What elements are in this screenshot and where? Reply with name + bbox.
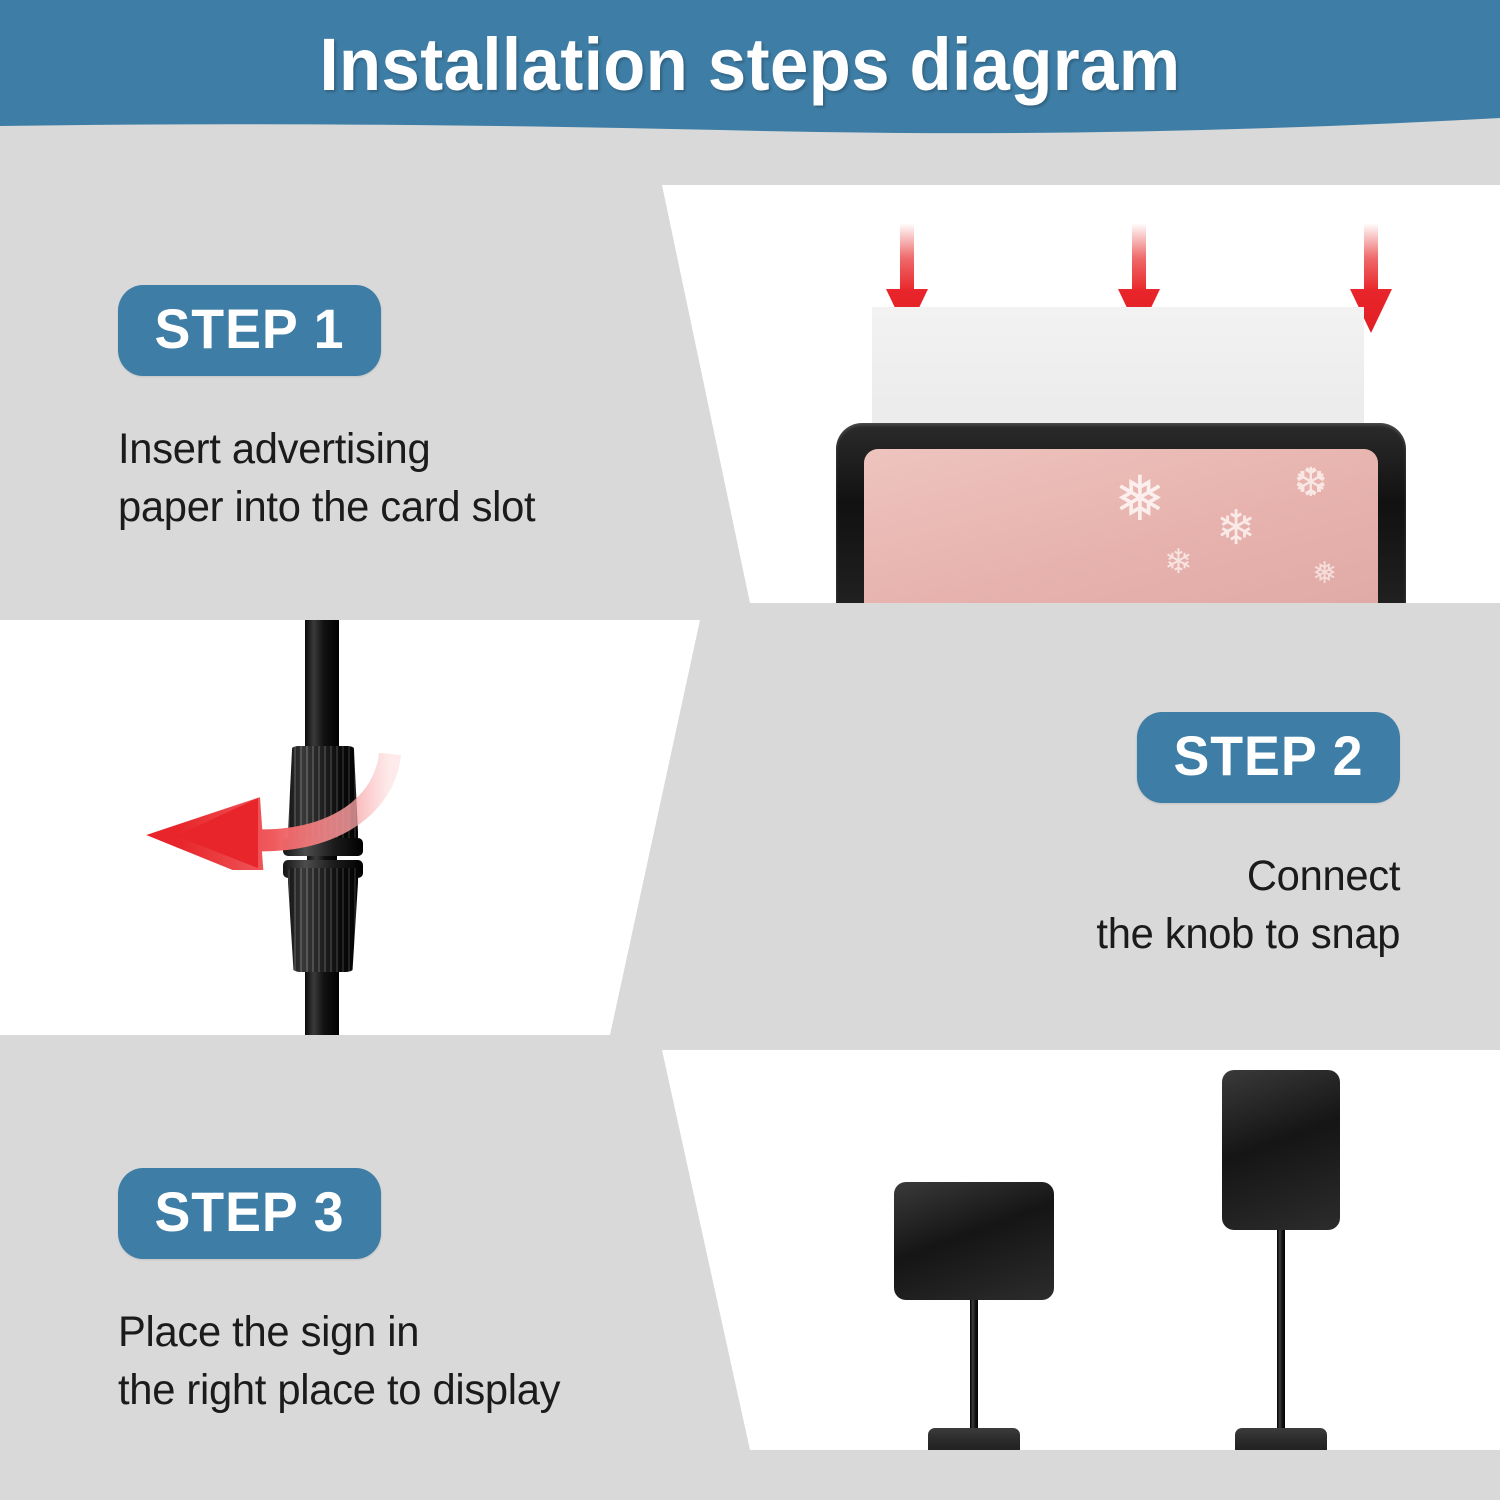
step-2-artwork bbox=[0, 620, 760, 1035]
snowflake-icon: ❅ bbox=[1114, 469, 1166, 531]
step-3-artwork: Spring SALE SPECIAL OFFER UP TO 60% OFF bbox=[640, 1050, 1500, 1450]
snowflake-icon: ❆ bbox=[1294, 463, 1328, 503]
page-title: Installation steps diagram bbox=[53, 0, 1448, 128]
step-2-description: Connect the knob to snap bbox=[1096, 847, 1400, 964]
stand-pole bbox=[1277, 1230, 1285, 1446]
step-1-description-line-2: paper into the card slot bbox=[118, 478, 535, 536]
step-1-description-line-1: Insert advertising bbox=[118, 420, 535, 478]
step-2-description-line-2: the knob to snap bbox=[1096, 905, 1400, 963]
step-3-row: STEP 3 Place the sign in the right place… bbox=[0, 1050, 1500, 1450]
infographic-page: Installation steps diagram STEP 1 Insert… bbox=[0, 0, 1500, 1500]
step-2-row: STEP 2 Connect the knob to snap bbox=[0, 620, 1500, 1035]
snowflake-icon: ❄ bbox=[1216, 505, 1256, 553]
step-2-description-line-1: Connect bbox=[1096, 847, 1400, 905]
header-banner: Installation steps diagram bbox=[0, 0, 1500, 135]
rotate-arrow-icon bbox=[140, 740, 420, 870]
snowflake-icon: ❅ bbox=[1312, 559, 1337, 589]
step-2-badge: STEP 2 bbox=[1137, 712, 1400, 803]
step-3-text-block: STEP 3 Place the sign in the right place… bbox=[118, 1168, 574, 1420]
step-3-badge: STEP 3 bbox=[118, 1168, 381, 1259]
snowflake-icon: ❄ bbox=[1164, 545, 1193, 579]
step-1-text-block: STEP 1 Insert advertising paper into the… bbox=[118, 285, 548, 537]
step-1-badge: STEP 1 bbox=[118, 285, 381, 376]
step-2-image-panel bbox=[0, 620, 760, 1035]
bottom-background-strip bbox=[0, 1452, 1500, 1500]
step-1-artwork: ❄ ❅ ❆ ❄ ❅ ❆ ❄ ❅ ❄ ❆ ❄ ❅ bbox=[640, 185, 1500, 603]
knob-lower bbox=[288, 868, 358, 972]
step-3-description: Place the sign in the right place to dis… bbox=[118, 1303, 560, 1420]
step-2-text-block: STEP 2 Connect the knob to snap bbox=[1087, 712, 1400, 964]
sign-frame-portrait: ❄ ❅ ❆ ❄ ❅ Merry Christmas DECEMBER 25 bbox=[1222, 1070, 1340, 1230]
step-1-image-panel: ❄ ❅ ❆ ❄ ❅ ❆ ❄ ❅ ❄ ❆ ❄ ❅ bbox=[640, 185, 1500, 603]
stand-pole bbox=[970, 1300, 978, 1446]
step-1-description: Insert advertising paper into the card s… bbox=[118, 420, 535, 537]
sign-frame-landscape: Spring SALE SPECIAL OFFER UP TO 60% OFF bbox=[894, 1182, 1054, 1300]
step-3-description-line-1: Place the sign in bbox=[118, 1303, 560, 1361]
snap-frame-top: ❅ ❄ ❆ ❄ ❅ bbox=[836, 423, 1406, 623]
step-3-image-panel: Spring SALE SPECIAL OFFER UP TO 60% OFF bbox=[640, 1050, 1500, 1450]
step-1-row: STEP 1 Insert advertising paper into the… bbox=[0, 185, 1500, 603]
step-3-description-line-2: the right place to display bbox=[118, 1361, 560, 1419]
